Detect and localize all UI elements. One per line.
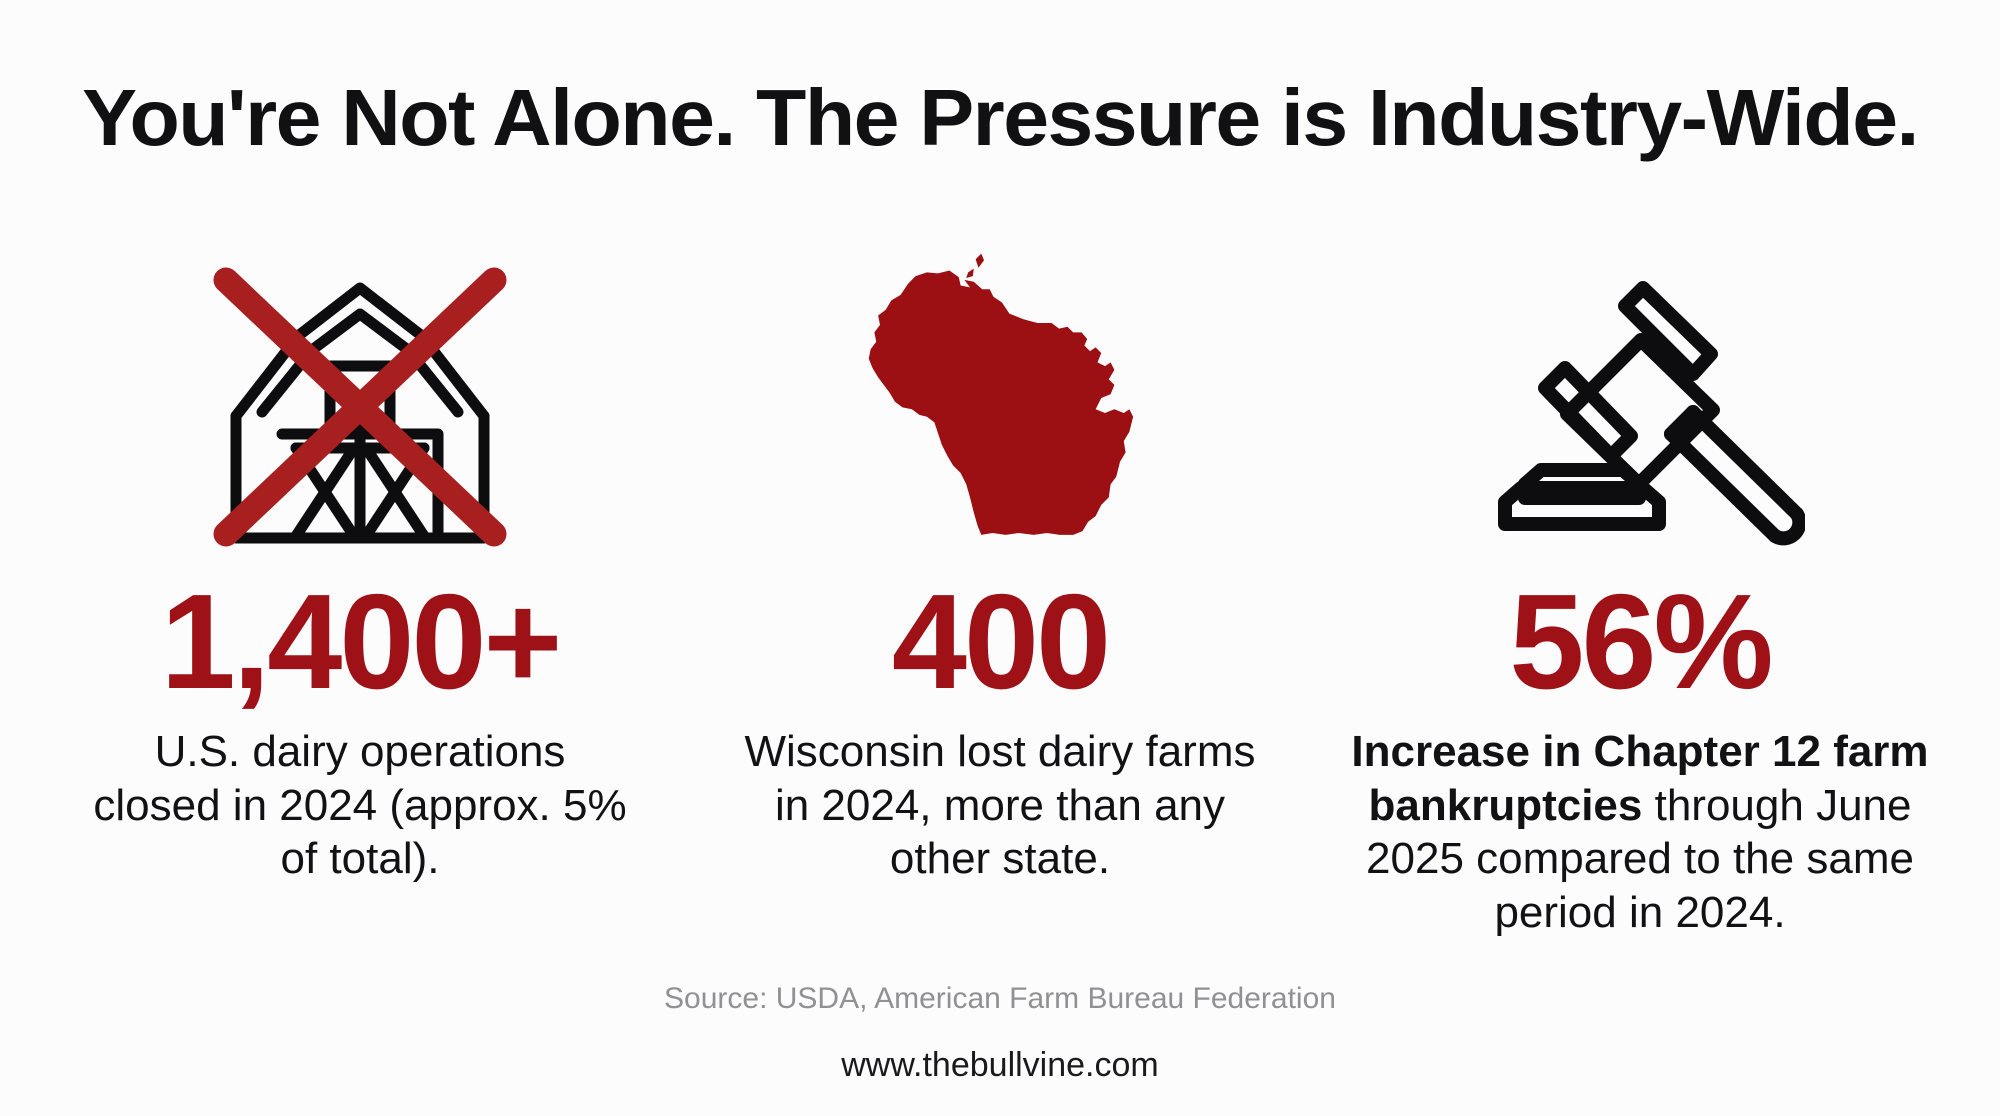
stat-card-wisconsin-farms-lost: 400 Wisconsin lost dairy farms in 2024, … — [700, 228, 1300, 886]
stat-card-dairy-operations-closed: 1,400+ U.S. dairy operations closed in 2… — [60, 228, 660, 886]
stat-value: 56% — [1509, 574, 1770, 709]
stat-caption: Increase in Chapter 12 farm bankruptcies… — [1340, 725, 1940, 940]
stat-value: 400 — [892, 574, 1108, 709]
icon-container — [210, 228, 510, 548]
stat-card-chapter-12-bankruptcies: 56% Increase in Chapter 12 farm bankrupt… — [1340, 228, 1940, 940]
crossed-out-barn-icon — [210, 248, 510, 548]
infographic-poster: You're Not Alone. The Pressure is Indust… — [0, 0, 2000, 1116]
page-title: You're Not Alone. The Pressure is Indust… — [0, 78, 2000, 158]
icon-container — [850, 228, 1150, 548]
stats-row: 1,400+ U.S. dairy operations closed in 2… — [0, 228, 2000, 940]
source-attribution: Source: USDA, American Farm Bureau Feder… — [0, 982, 2000, 1016]
stat-caption: U.S. dairy operations closed in 2024 (ap… — [90, 725, 630, 886]
icon-container — [1475, 228, 1805, 548]
wisconsin-state-map-icon — [850, 248, 1150, 548]
gavel-icon — [1475, 248, 1805, 548]
stat-caption: Wisconsin lost dairy farms in 2024, more… — [730, 725, 1270, 886]
website-url: www.thebullvine.com — [0, 1046, 2000, 1085]
stat-value: 1,400+ — [161, 574, 560, 709]
